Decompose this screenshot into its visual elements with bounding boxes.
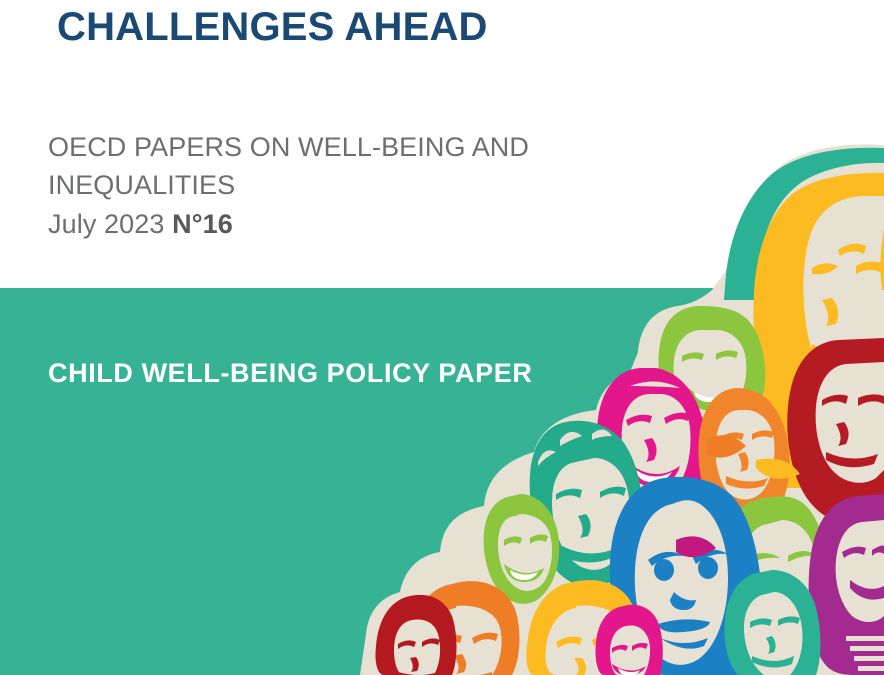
series-info-block: OECD PAPERS ON WELL-BEING AND INEQUALITI… [48, 128, 568, 243]
issue-date: July 2023 [48, 209, 172, 239]
issue-number: N°16 [172, 209, 233, 239]
report-cover-page: CHALLENGES AHEAD OECD PAPERS ON WELL-BEI… [0, 0, 884, 675]
paper-kicker: CHILD WELL-BEING POLICY PAPER [48, 358, 532, 389]
series-name-line-2: INEQUALITIES [48, 166, 568, 204]
series-name-line-1: OECD PAPERS ON WELL-BEING AND [48, 128, 568, 166]
issue-line: July 2023 N°16 [48, 205, 568, 243]
girl-yellow-hair-top-teal-ring [724, 148, 884, 300]
teal-background-band [0, 288, 884, 675]
page-title: CHALLENGES AHEAD [57, 4, 488, 51]
